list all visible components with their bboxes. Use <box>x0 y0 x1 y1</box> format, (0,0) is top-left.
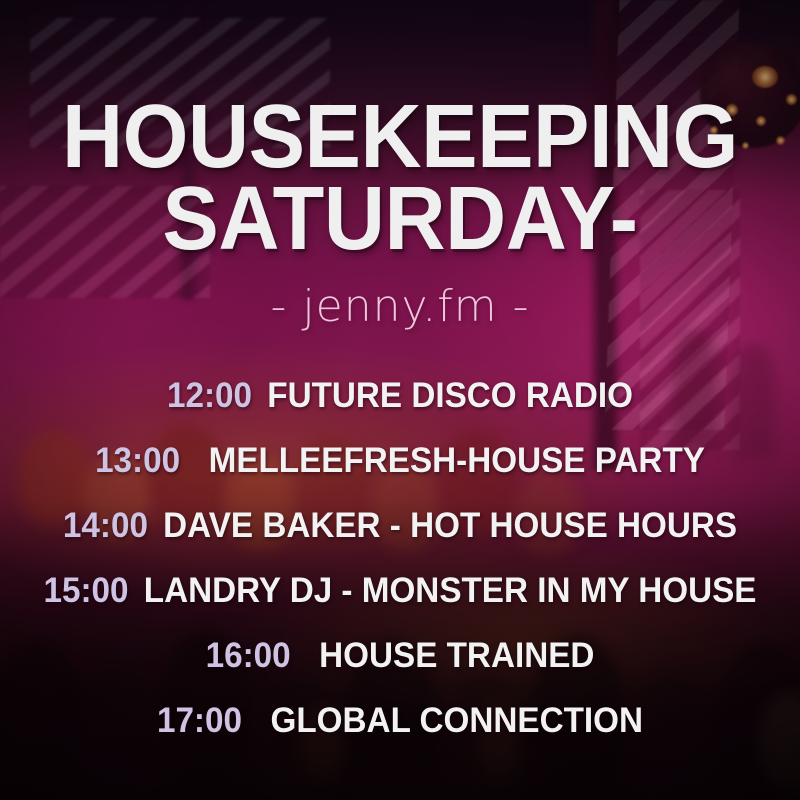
schedule-row: 16:00 HOUSE TRAINED <box>20 636 780 701</box>
schedule-show: HOUSE TRAINED <box>319 636 594 676</box>
schedule-row: 17:00 GLOBAL CONNECTION <box>20 701 780 766</box>
schedule-time: 14:00 <box>63 506 148 546</box>
schedule-row: 12:00 FUTURE DISCO RADIO <box>20 376 780 441</box>
schedule-time: 16:00 <box>206 636 291 676</box>
schedule-time: 13:00 <box>95 441 180 481</box>
schedule-time: 15:00 <box>43 571 128 611</box>
schedule-show: LANDRY DJ - MONSTER IN MY HOUSE <box>144 571 757 611</box>
schedule-show: GLOBAL CONNECTION <box>271 701 644 741</box>
schedule-row: 14:00 DAVE BAKER - HOT HOUSE HOURS <box>20 506 780 571</box>
radio-schedule-poster: HOUSEKEEPING SATURDAY- - jenny.fm - 12:0… <box>0 0 800 800</box>
title-line-2: SATURDAY- <box>24 178 776 260</box>
schedule-time: 17:00 <box>157 701 242 741</box>
schedule-list: 12:00 FUTURE DISCO RADIO 13:00 MELLEEFRE… <box>0 376 800 766</box>
schedule-show: DAVE BAKER - HOT HOUSE HOURS <box>163 506 737 546</box>
schedule-time: 12:00 <box>167 376 252 416</box>
station-subtitle: - jenny.fm - <box>0 282 800 332</box>
title-line-1: HOUSEKEEPING <box>24 96 776 178</box>
schedule-row: 13:00 MELLEEFRESH-HOUSE PARTY <box>20 441 780 506</box>
schedule-row: 15:00 LANDRY DJ - MONSTER IN MY HOUSE <box>20 571 780 636</box>
schedule-show: FUTURE DISCO RADIO <box>267 376 633 416</box>
poster-title: HOUSEKEEPING SATURDAY- <box>0 96 800 260</box>
schedule-show: MELLEEFRESH-HOUSE PARTY <box>209 441 705 481</box>
